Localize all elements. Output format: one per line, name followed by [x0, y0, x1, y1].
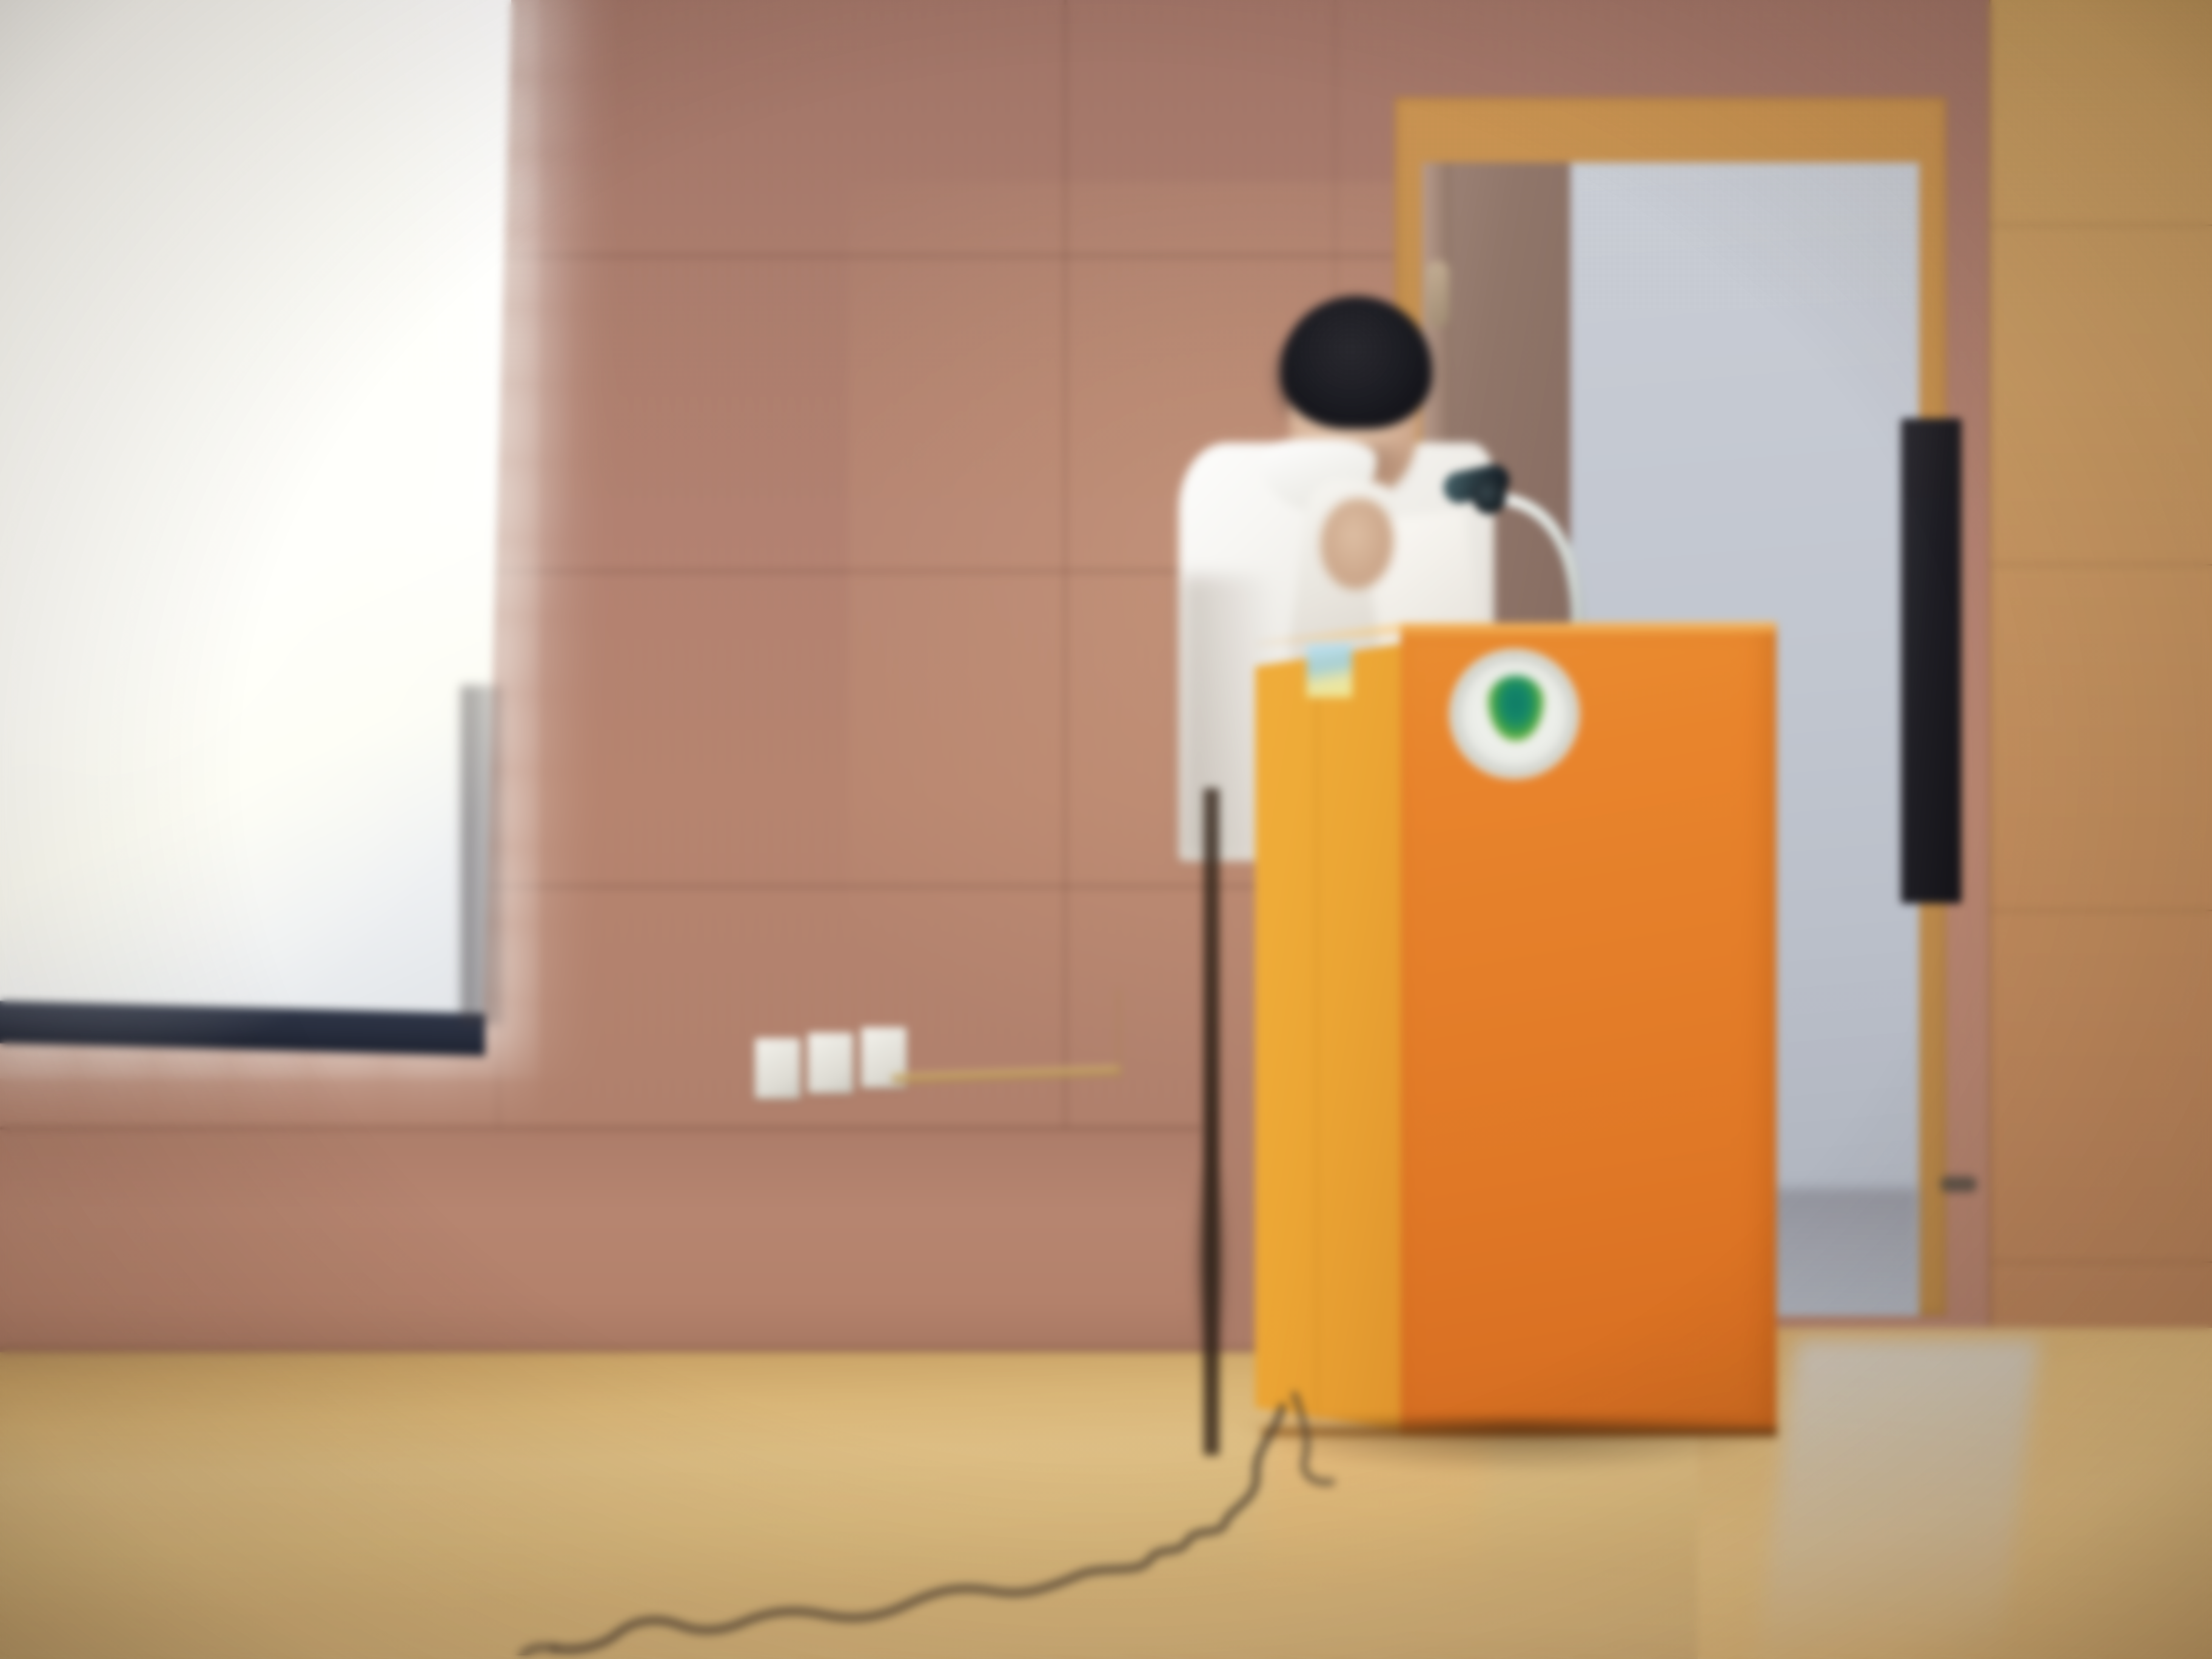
wall-right-seam	[1989, 910, 2212, 911]
projection-screen	[0, 0, 521, 1073]
projection-screen-surface	[0, 0, 512, 1031]
wall-seam-vertical	[1064, 0, 1067, 1140]
microphone-capsule-tip	[1472, 479, 1506, 514]
photo-scene: Speaker at orange podium in wood-paneled…	[0, 0, 2212, 1659]
wall-outlet-plate[interactable]	[808, 1033, 853, 1093]
podium-cable-bundle	[1193, 1170, 1227, 1370]
floor-cable	[424, 1382, 1455, 1655]
wall-right-seam	[1989, 224, 2212, 226]
doorway-floor-object	[1940, 1176, 1977, 1192]
speaker-hair	[1281, 296, 1432, 429]
black-column-speaker	[1901, 418, 1962, 903]
wall-wainscot	[0, 1128, 1201, 1370]
projection-screen-right-edge	[461, 685, 503, 1025]
podium[interactable]	[1243, 612, 1777, 1449]
vertical-wood-trim	[1117, 988, 1122, 1079]
wall-outlet-plate[interactable]	[755, 1038, 800, 1099]
podium-sticker	[1307, 644, 1352, 697]
wall-seam-horizontal	[485, 255, 1395, 257]
wall-right-seam	[1989, 564, 2212, 566]
podium-side-seam	[1316, 650, 1318, 1426]
wainscot-top-seam	[0, 1127, 1201, 1130]
podium-side-face	[1255, 643, 1407, 1431]
wall-right-seam	[1989, 1261, 2212, 1263]
wall-right-golden-wood	[1989, 0, 2212, 1334]
wall-right-edge	[1989, 0, 1992, 1334]
